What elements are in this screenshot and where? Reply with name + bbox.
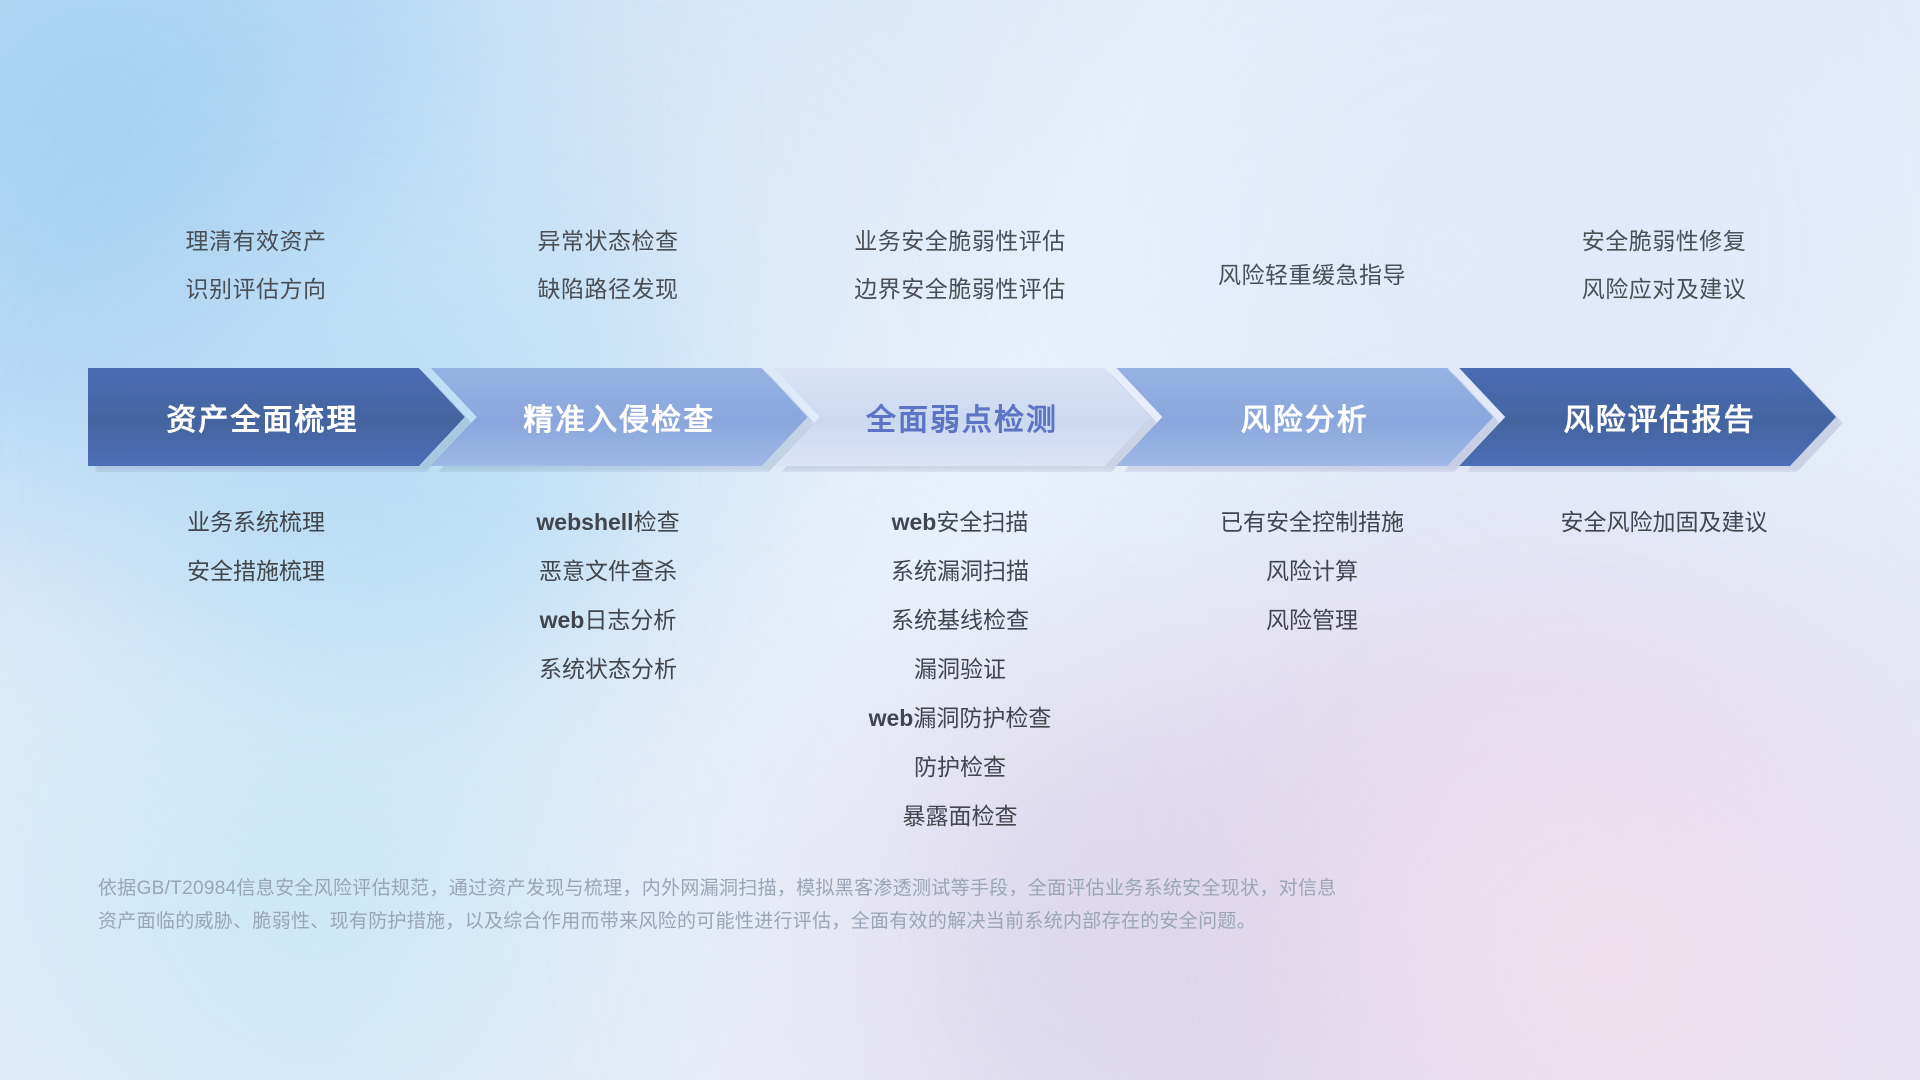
- detail-item: 已有安全控制措施: [1220, 498, 1404, 547]
- process-stage-intrusion-check[interactable]: 精准入侵检查: [431, 368, 808, 466]
- top-cell-risk-analysis: 风险轻重缓急指导: [1136, 222, 1488, 290]
- footer-description: 依据GB/T20984信息安全风险评估规范，通过资产发现与梳理，内外网漏洞扫描，…: [98, 872, 1658, 938]
- top-item: 异常状态检查: [538, 222, 679, 256]
- bottom-cell-risk-analysis: 已有安全控制措施风险计算风险管理: [1136, 498, 1488, 645]
- process-stage-asset-inventory[interactable]: 资产全面梳理: [88, 368, 465, 466]
- stage-title: 全面弱点检测: [866, 395, 1058, 439]
- detail-item: 防护检查: [914, 743, 1006, 792]
- detail-item: webshell检查: [536, 498, 679, 547]
- top-item: 风险应对及建议: [1582, 270, 1747, 304]
- detail-item-text: 检查: [634, 509, 680, 535]
- top-item: 风险轻重缓急指导: [1218, 256, 1406, 290]
- detail-item: web漏洞防护检查: [869, 694, 1052, 743]
- top-item: 业务安全脆弱性评估: [854, 222, 1066, 256]
- detail-item-text: 安全扫描: [936, 509, 1028, 535]
- top-item: 识别评估方向: [186, 270, 327, 304]
- detail-item: 安全风险加固及建议: [1561, 498, 1768, 547]
- detail-item: 漏洞验证: [914, 645, 1006, 694]
- detail-item-prefix: web: [540, 607, 585, 633]
- bottom-cell-assessment-report: 安全风险加固及建议: [1488, 498, 1840, 547]
- top-item: 边界安全脆弱性评估: [854, 270, 1066, 304]
- detail-item: 安全措施梳理: [187, 547, 325, 596]
- detail-item: 风险计算: [1266, 547, 1358, 596]
- detail-item-prefix: web: [869, 705, 914, 731]
- top-cell-intrusion-check: 异常状态检查缺陷路径发现: [432, 222, 784, 304]
- process-stage-assessment-report[interactable]: 风险评估报告: [1459, 368, 1836, 466]
- process-chevron-band: 资产全面梳理精准入侵检查全面弱点检测风险分析风险评估报告: [88, 368, 1836, 466]
- top-cell-weakness-detection: 业务安全脆弱性评估边界安全脆弱性评估: [784, 222, 1136, 304]
- detail-item: 暴露面检查: [903, 792, 1018, 841]
- detail-item: 系统漏洞扫描: [891, 547, 1029, 596]
- detail-item: 风险管理: [1266, 596, 1358, 645]
- stage-title: 资产全面梳理: [166, 395, 358, 439]
- detail-item: web安全扫描: [892, 498, 1029, 547]
- footer-line-1: 依据GB/T20984信息安全风险评估规范，通过资产发现与梳理，内外网漏洞扫描，…: [98, 872, 1658, 905]
- bottom-cell-intrusion-check: webshell检查恶意文件查杀web日志分析系统状态分析: [432, 498, 784, 694]
- slide-canvas: 理清有效资产识别评估方向异常状态检查缺陷路径发现业务安全脆弱性评估边界安全脆弱性…: [0, 0, 1920, 1080]
- top-item: 缺陷路径发现: [538, 270, 679, 304]
- top-cell-asset-inventory: 理清有效资产识别评估方向: [80, 222, 432, 304]
- detail-item: 系统基线检查: [891, 596, 1029, 645]
- detail-item: 恶意文件查杀: [539, 547, 677, 596]
- top-descriptions-row: 理清有效资产识别评估方向异常状态检查缺陷路径发现业务安全脆弱性评估边界安全脆弱性…: [80, 222, 1840, 332]
- detail-item-text: 日志分析: [584, 607, 676, 633]
- process-stage-weakness-detection[interactable]: 全面弱点检测: [774, 368, 1151, 466]
- stage-title: 风险分析: [1241, 395, 1369, 439]
- detail-item-text: 漏洞防护检查: [913, 705, 1051, 731]
- bottom-details-row: 业务系统梳理安全措施梳理webshell检查恶意文件查杀web日志分析系统状态分…: [80, 498, 1840, 841]
- footer-line-2: 资产面临的威胁、脆弱性、现有防护措施，以及综合作用而带来风险的可能性进行评估，全…: [98, 905, 1658, 938]
- process-stage-risk-analysis[interactable]: 风险分析: [1116, 368, 1493, 466]
- detail-item-prefix: web: [892, 509, 937, 535]
- top-item: 安全脆弱性修复: [1582, 222, 1747, 256]
- top-cell-assessment-report: 安全脆弱性修复风险应对及建议: [1488, 222, 1840, 304]
- detail-item: 业务系统梳理: [187, 498, 325, 547]
- stage-title: 精准入侵检查: [523, 395, 715, 439]
- detail-item-prefix: webshell: [536, 509, 633, 535]
- top-item: 理清有效资产: [186, 222, 327, 256]
- stage-title: 风险评估报告: [1564, 395, 1756, 439]
- bottom-cell-weakness-detection: web安全扫描系统漏洞扫描系统基线检查漏洞验证web漏洞防护检查防护检查暴露面检…: [784, 498, 1136, 841]
- detail-item: 系统状态分析: [539, 645, 677, 694]
- detail-item: web日志分析: [540, 596, 677, 645]
- bottom-cell-asset-inventory: 业务系统梳理安全措施梳理: [80, 498, 432, 596]
